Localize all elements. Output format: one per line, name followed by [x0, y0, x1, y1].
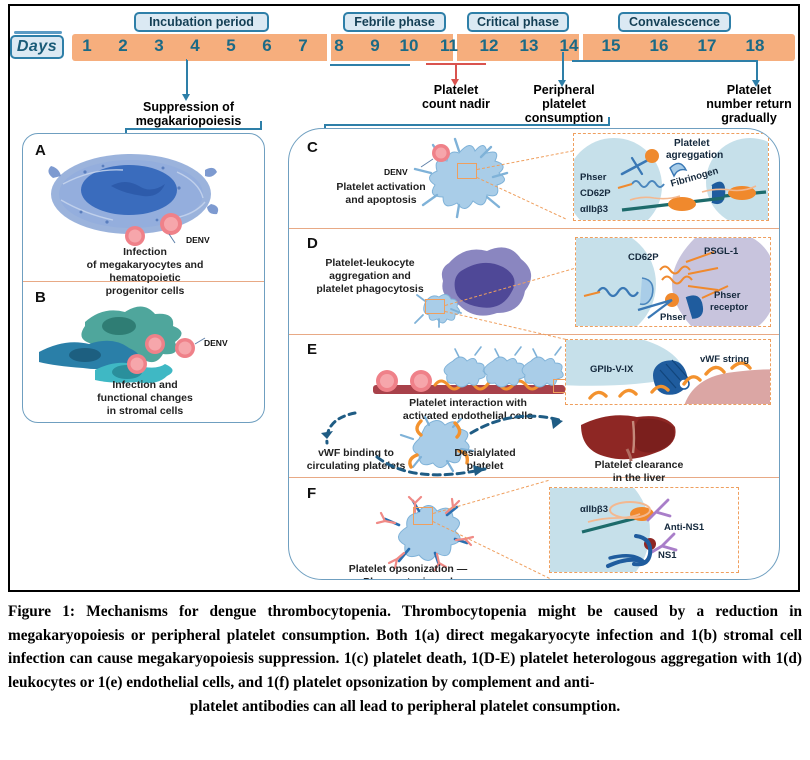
panel-e-label-gpib: GPIb-V-IX — [590, 364, 633, 375]
panel-e-inset: GPIb-V-IX vWF string — [565, 339, 771, 405]
figure-caption-body: Figure 1: Mechanisms for dengue thromboc… — [8, 603, 802, 691]
panel-b-caption-l2: functional changes — [97, 392, 193, 404]
panel-c-inset-title-l1: Platelet — [674, 138, 710, 149]
panel-f-label-antins1: Anti-NS1 — [664, 522, 704, 533]
suppression-arrow-line — [186, 60, 188, 96]
day-label-8: 8 — [326, 36, 352, 56]
panel-d-zoom-marker — [425, 299, 445, 314]
panel-left-container: A — [22, 133, 265, 423]
panel-d-caption-l3: platelet phagocytosis — [316, 283, 423, 295]
febrile-underline — [330, 64, 410, 66]
panel-e-caption-l1: Platelet interaction with — [409, 397, 527, 409]
day-label-13: 13 — [516, 36, 542, 56]
endothelium-illustration — [373, 347, 583, 403]
annotation-nadir: Platelet count nadir — [405, 83, 507, 111]
peripheral-bracket-bottom — [324, 124, 609, 126]
day-label-6: 6 — [254, 36, 280, 56]
phase-chip-critical: Critical phase — [467, 12, 569, 32]
day-label-16: 16 — [646, 36, 672, 56]
day-label-3: 3 — [146, 36, 172, 56]
return-line2: number return — [706, 97, 791, 111]
megakaryocyte-illustration — [45, 148, 225, 238]
panel-d-caption-l2: aggregation and — [329, 270, 411, 282]
day-label-9: 9 — [362, 36, 388, 56]
panel-b-caption-l3: in stromal cells — [107, 405, 183, 417]
panel-b-denv-label: DENV — [204, 338, 228, 348]
panel-c-caption-l1: Platelet activation — [336, 181, 425, 193]
clearance-arrow-icon — [469, 411, 579, 437]
panel-d-label-receptor: receptor — [710, 302, 748, 313]
panel-e-clearance-l1: Platelet clearance — [595, 459, 684, 471]
return-line3: gradually — [721, 111, 777, 125]
peripheral-arrow-line — [562, 52, 564, 82]
peripheral-line2: platelet — [542, 97, 586, 111]
suppression-line2: megakariopoiesis — [136, 114, 242, 128]
day-label-5: 5 — [218, 36, 244, 56]
return-line1: Platelet — [727, 83, 771, 97]
panel-c-inset-title-l2: agreggation — [666, 150, 723, 161]
days-tick-mark — [14, 31, 62, 34]
day-label-15: 15 — [598, 36, 624, 56]
liver-illustration — [577, 411, 677, 463]
panel-c-inset: Platelet agreggation Phser CD62P αIIbβ3 … — [573, 133, 769, 221]
panel-a-caption-l2: of megakaryocytes and — [87, 259, 204, 271]
panel-label-e: E — [307, 341, 317, 358]
annotation-suppression: Suppression of megakariopoiesis — [116, 100, 261, 128]
panel-divider-cd — [289, 228, 779, 229]
nadir-line2: count nadir — [422, 97, 490, 111]
panel-e-clearance-l2: in the liver — [613, 472, 666, 484]
annotation-peripheral: Peripheral platelet consumption — [518, 83, 610, 125]
panel-f-inset: αIIbβ3 Anti-NS1 NS1 — [549, 487, 739, 573]
panel-c-denv-label: DENV — [384, 167, 408, 177]
panel-divider-de — [289, 334, 779, 335]
panel-c-zoom-marker — [457, 163, 477, 179]
day-label-4: 4 — [182, 36, 208, 56]
panel-a-caption-l4: progenitor cells — [106, 285, 185, 297]
panel-divider-ef — [289, 477, 779, 478]
panel-a-caption-l1: Infection — [123, 246, 167, 258]
panel-a-denv-label: DENV — [186, 235, 210, 245]
suppression-line1: Suppression of — [143, 100, 234, 114]
panel-f-caption-l1: Platelet opsonization — — [349, 563, 467, 575]
nadir-line1: Platelet — [434, 83, 478, 97]
panel-c-label-phser: Phser — [580, 172, 606, 183]
phase-chip-incubation: Incubation period — [134, 12, 269, 32]
panel-d-label-psgl1: PSGL-1 — [704, 246, 738, 257]
day-label-11: 11 — [436, 36, 462, 56]
panel-f-caption-l2: Phagocytosis and — [363, 576, 453, 580]
panel-e-label-vwf: vWF string — [700, 354, 749, 365]
return-arrow-line — [756, 60, 758, 82]
days-chip: Days — [10, 35, 64, 59]
day-label-1: 1 — [74, 36, 100, 56]
day-label-10: 10 — [396, 36, 422, 56]
suppression-bracket-bottom — [125, 128, 261, 130]
panel-f-label-ns1: NS1 — [658, 550, 676, 561]
panel-label-d: D — [307, 235, 318, 252]
panel-c-caption-l2: and apoptosis — [345, 194, 416, 206]
phase-chip-convalescence: Convalescence — [618, 12, 731, 32]
panel-d-label-cd62p: CD62P — [628, 252, 659, 263]
panel-e-clearance-caption: Platelet clearance in the liver — [573, 459, 705, 485]
panel-d-label-phser: Phser — [660, 312, 686, 323]
panel-a-caption: Infection of megakaryocytes and hematopo… — [33, 246, 257, 299]
figure-caption-last-line: platelet antibodies can all lead to peri… — [8, 695, 802, 719]
day-label-12: 12 — [476, 36, 502, 56]
panel-c-label-cd62p: CD62P — [580, 188, 611, 199]
panel-c-caption: Platelet activation and apoptosis — [301, 181, 461, 207]
day-label-14: 14 — [556, 36, 582, 56]
phase-chip-febrile: Febrile phase — [343, 12, 446, 32]
day-label-17: 17 — [694, 36, 720, 56]
panel-a-caption-l3: hematopoietic — [109, 272, 180, 284]
panel-c-label-integrin: αIIbβ3 — [580, 204, 608, 215]
annotation-return: Platelet number return gradually — [690, 83, 808, 125]
panel-f-label-integrin: αIIbβ3 — [580, 504, 608, 515]
panel-right-container: C DENV Platelet activation and apoptosis — [288, 128, 780, 580]
peripheral-line3: consumption — [525, 111, 603, 125]
panel-d-caption-l1: Platelet-leukocyte — [325, 257, 414, 269]
day-label-2: 2 — [110, 36, 136, 56]
panel-f-zoom-marker — [413, 507, 433, 525]
panel-f-caption: Platelet opsonization — Phagocytosis and… — [303, 563, 513, 580]
panel-b-caption-l1: Infection and — [112, 379, 177, 391]
peripheral-line1: Peripheral — [533, 83, 594, 97]
panel-b-caption: Infection and functional changes in stro… — [33, 379, 257, 418]
day-label-18: 18 — [742, 36, 768, 56]
panel-d-inset: CD62P PSGL-1 Phser Phser receptor — [575, 237, 771, 327]
day-label-7: 7 — [290, 36, 316, 56]
denv-virion-icon — [432, 144, 450, 162]
figure-caption: Figure 1: Mechanisms for dengue thromboc… — [8, 600, 802, 719]
recirculation-arrow-icon — [375, 455, 505, 481]
return-bracket — [572, 60, 757, 62]
panel-d-label-phser-receptor: Phser — [714, 290, 740, 301]
panel-label-f: F — [307, 485, 316, 502]
panel-label-c: C — [307, 139, 318, 156]
